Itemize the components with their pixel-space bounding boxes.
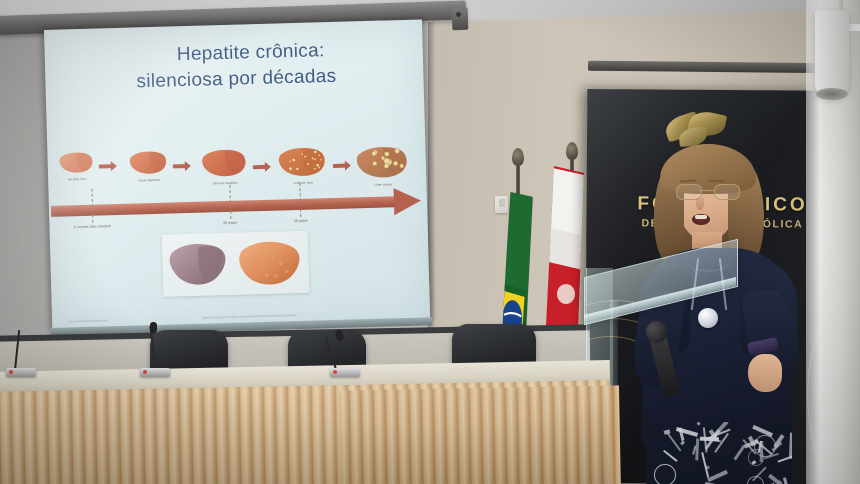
slide-content: Hepatite crônica: silenciosa por décadas…: [44, 19, 430, 329]
dais-shading: [0, 380, 611, 484]
presentation-photo: Hepatite crônica: silenciosa por décadas…: [0, 0, 860, 484]
desk-mic-1[interactable]: [6, 368, 36, 377]
skirt-pattern-mark: [707, 470, 728, 482]
lamp-aperture: [816, 88, 848, 100]
skirt-pattern-mark: [663, 449, 677, 461]
skirt-pattern-mark: [783, 477, 789, 484]
ceiling-lamp: [815, 10, 849, 98]
mic-capsule-2: [150, 322, 157, 333]
speaker: [636, 140, 796, 484]
skirt-pattern-mark: [789, 432, 792, 458]
light-switch[interactable]: [495, 196, 508, 213]
teeth: [695, 215, 707, 219]
switch-rocker[interactable]: [499, 199, 505, 207]
hand-right: [748, 354, 782, 392]
mouth: [692, 214, 710, 225]
desk-mic-2[interactable]: [140, 368, 170, 377]
skirt-pattern-circle: [747, 476, 765, 484]
lens-right: [714, 184, 740, 200]
desk-mic-3[interactable]: [330, 368, 360, 377]
nose: [696, 198, 704, 210]
glasses: [676, 184, 738, 199]
skirt-pattern-mark: [733, 444, 745, 460]
projection-screen: Hepatite crônica: silenciosa por décadas…: [44, 19, 430, 329]
glasses-bridge: [700, 190, 714, 191]
mic-led-3: [333, 370, 337, 374]
screen-glare: [44, 19, 430, 329]
skirt-pattern-circle: [654, 464, 676, 484]
mic-led-1: [9, 370, 13, 374]
skirt-pattern-mark: [680, 440, 685, 445]
roller-end-cap: [452, 8, 469, 31]
pendant: [698, 308, 718, 328]
skirt: [646, 422, 792, 484]
skirt-pattern-mark: [697, 422, 701, 425]
skirt-pattern-circle: [754, 435, 776, 457]
mic-led-2: [143, 370, 147, 374]
roller-screw: [456, 12, 461, 17]
skirt-pattern-mark: [666, 433, 681, 452]
